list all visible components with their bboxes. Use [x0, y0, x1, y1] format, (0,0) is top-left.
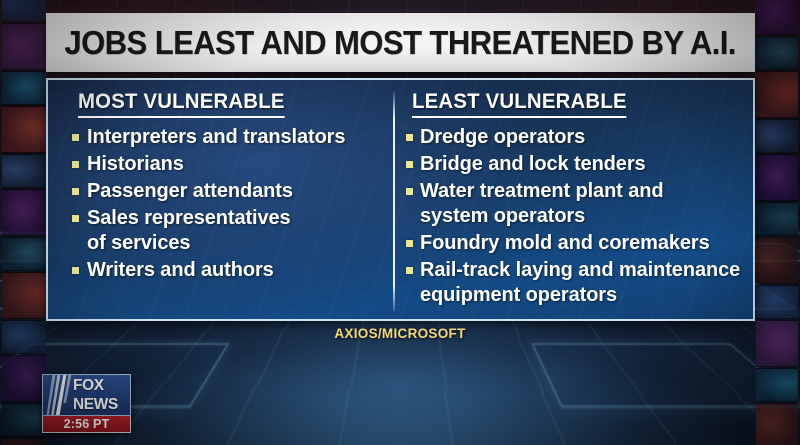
background-monitor — [756, 368, 798, 402]
list-item: Foundry mold and coremakers — [406, 231, 746, 256]
background-monitor — [2, 189, 46, 236]
broadcast-screenshot: JOBS LEAST AND MOST THREATENED BY A.I. M… — [0, 0, 800, 445]
fox-searchlight-icon — [45, 374, 76, 416]
list-item: Passenger attendants — [70, 179, 390, 204]
background-monitor — [756, 403, 798, 445]
network-logo-bug: FOX NEWS 2:56 PT — [42, 374, 131, 433]
right-screen-stack — [754, 0, 800, 445]
background-monitor — [756, 202, 798, 236]
background-monitor — [2, 0, 46, 22]
list-item: Historians — [70, 152, 390, 177]
background-monitor — [2, 106, 46, 153]
list-item: Bridge and lock tenders — [406, 152, 746, 177]
list-item: Sales representativesof services — [70, 206, 390, 256]
list-least-vulnerable: Dredge operatorsBridge and lock tendersW… — [406, 125, 746, 308]
background-monitor — [2, 438, 46, 445]
background-monitor — [756, 285, 798, 319]
background-monitor — [2, 403, 46, 437]
background-monitor — [2, 355, 46, 402]
content-panel: MOST VULNERABLE Interpreters and transla… — [46, 78, 755, 321]
fox-news-logo: FOX NEWS — [42, 374, 131, 416]
column-least-vulnerable: LEAST VULNERABLE Dredge operatorsBridge … — [406, 90, 746, 310]
background-monitor — [756, 154, 798, 201]
fox-news-wordmark: FOX NEWS — [73, 376, 118, 414]
column-divider — [393, 92, 395, 311]
background-monitor — [2, 23, 46, 70]
background-monitor — [756, 71, 798, 118]
background-monitor — [2, 237, 46, 271]
list-item: Water treatment plant andsystem operator… — [406, 179, 746, 229]
list-item: Interpreters and translators — [70, 125, 390, 150]
background-monitor — [2, 154, 46, 188]
column-heading-least-vulnerable: LEAST VULNERABLE — [412, 90, 627, 118]
background-monitor — [756, 237, 798, 284]
list-most-vulnerable: Interpreters and translatorsHistoriansPa… — [70, 125, 390, 283]
list-item: Dredge operators — [406, 125, 746, 150]
background-monitor — [2, 71, 46, 105]
page-title: JOBS LEAST AND MOST THREATENED BY A.I. — [65, 24, 736, 62]
background-monitor — [756, 119, 798, 153]
source-credit: AXIOS/MICROSOFT — [0, 326, 800, 341]
column-most-vulnerable: MOST VULNERABLE Interpreters and transla… — [70, 90, 390, 285]
background-monitor — [2, 272, 46, 319]
list-item: Rail-track laying and maintenanceequipme… — [406, 258, 746, 308]
background-monitor — [756, 0, 798, 35]
fox-word: FOX — [73, 376, 118, 395]
background-monitor — [756, 36, 798, 70]
lower-third-title-bar: JOBS LEAST AND MOST THREATENED BY A.I. — [46, 13, 755, 72]
list-item: Writers and authors — [70, 258, 390, 283]
left-screen-stack — [0, 0, 48, 445]
column-heading-most-vulnerable: MOST VULNERABLE — [78, 90, 285, 118]
news-word: NEWS — [73, 395, 118, 414]
